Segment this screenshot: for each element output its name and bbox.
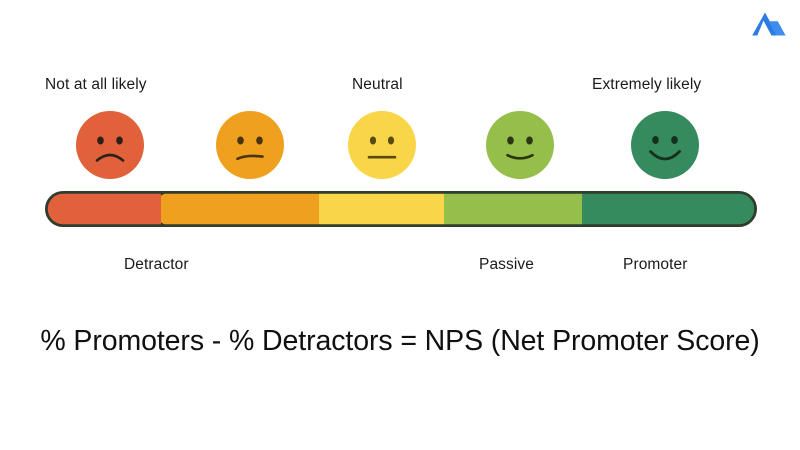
mountain-logo-icon: [752, 10, 786, 40]
scale-label-neutral: Neutral: [352, 76, 403, 94]
scale-label-not-at-all-likely: Not at all likely: [45, 76, 147, 94]
category-label-passive: Passive: [479, 256, 534, 274]
scale-label-extremely-likely: Extremely likely: [592, 76, 701, 94]
face-slightly-frowning-icon: [216, 111, 284, 179]
face-frowning-icon: [76, 111, 144, 179]
face-neutral-icon: [348, 111, 416, 179]
nps-scale-bar: [45, 191, 757, 227]
detractor-segment-1: [45, 191, 161, 227]
face-slightly-smiling-icon: [486, 111, 554, 179]
face-smiling-icon: [631, 111, 699, 179]
nps-diagram: Not at all likely Neutral Extremely like…: [0, 0, 800, 450]
category-label-detractor: Detractor: [124, 256, 189, 274]
nps-formula-text: % Promoters - % Detractors = NPS (Net Pr…: [0, 325, 800, 358]
face-row: [0, 111, 800, 181]
category-label-promoter: Promoter: [623, 256, 688, 274]
